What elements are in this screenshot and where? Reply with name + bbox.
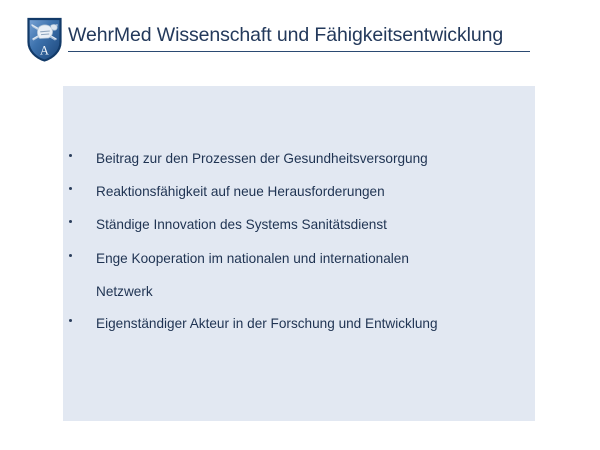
list-item-label: Enge Kooperation im nationalen und inter… bbox=[96, 251, 409, 266]
list-item: Reaktionsfähigkeit auf neue Herausforder… bbox=[69, 183, 531, 200]
page-title: WehrMed Wissenschaft und Fähigkeitsentwi… bbox=[68, 22, 538, 48]
list-item-label: Eigenständiger Akteur in der Forschung u… bbox=[96, 315, 531, 332]
content-panel: Beitrag zur den Prozessen der Gesundheit… bbox=[63, 86, 535, 421]
list-item-label: Beitrag zur den Prozessen der Gesundheit… bbox=[96, 150, 531, 167]
bullet-dot-icon bbox=[69, 187, 72, 190]
list-item: Eigenständiger Akteur in der Forschung u… bbox=[69, 315, 531, 332]
list-item: Ständige Innovation des Systems Sanitäts… bbox=[69, 216, 531, 233]
list-item-label: Ständige Innovation des Systems Sanitäts… bbox=[96, 216, 531, 233]
bullet-dot-icon bbox=[69, 154, 72, 157]
slide-root: A WehrMed Wissenschaft und Fähigkeitsent… bbox=[0, 0, 600, 450]
list-item-label-continued: Netzwerk bbox=[96, 283, 531, 300]
list-item: Enge Kooperation im nationalen und inter… bbox=[69, 250, 531, 300]
svg-text:A: A bbox=[40, 44, 49, 58]
list-item: Beitrag zur den Prozessen der Gesundheit… bbox=[69, 150, 531, 167]
bullet-dot-icon bbox=[69, 220, 72, 223]
title-underline-rule bbox=[68, 51, 530, 52]
slide-header: A WehrMed Wissenschaft und Fähigkeitsent… bbox=[0, 0, 600, 70]
shield-crest-emblem-icon: A bbox=[26, 17, 63, 62]
list-item-label: Reaktionsfähigkeit auf neue Herausforder… bbox=[96, 183, 531, 200]
bullet-dot-icon bbox=[69, 319, 72, 322]
bullet-dot-icon bbox=[69, 254, 72, 257]
